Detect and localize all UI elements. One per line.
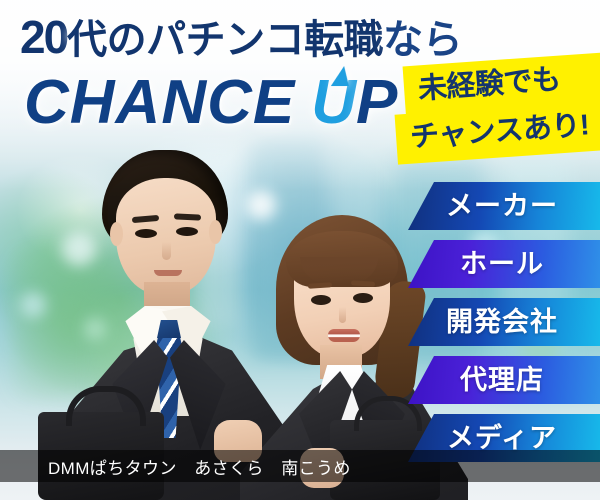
caption-band: DMMぱちタウン あさくら 南こうめ — [0, 450, 600, 482]
ear — [209, 220, 222, 244]
recruitment-banner[interactable]: 20代のパチンコ転職なら CHANCEUP 未経験でも チャンスあり! メーカー… — [0, 0, 600, 500]
category-tag-label: 開発会社 — [446, 309, 558, 336]
badge-label: チャンスあり! — [409, 111, 590, 152]
eye — [176, 227, 198, 236]
category-tag-maker[interactable]: メーカー — [408, 182, 600, 230]
category-tag-label: メディア — [447, 425, 557, 452]
mouth — [154, 270, 182, 276]
hair-bangs — [286, 231, 398, 287]
ear — [110, 222, 123, 246]
headline: 20代のパチンコ転職なら — [20, 14, 462, 60]
logo-up-group: UP — [311, 72, 397, 134]
eye — [135, 229, 157, 238]
headline-tail: なら — [383, 18, 462, 62]
category-tag-label: ホール — [460, 251, 544, 278]
chance-up-logo: CHANCEUP — [24, 72, 397, 134]
category-tag-label: 代理店 — [460, 367, 544, 394]
caption-text: DMMぱちタウン あさくら 南こうめ — [48, 454, 351, 479]
category-tag-agency[interactable]: 代理店 — [408, 356, 600, 404]
face — [116, 178, 216, 294]
necktie-knot — [157, 320, 181, 338]
category-tag-development-company[interactable]: 開発会社 — [408, 298, 600, 346]
eye — [353, 293, 373, 303]
nose — [162, 242, 171, 260]
logo-letter-p: P — [356, 68, 397, 137]
headline-number: 20 — [20, 11, 67, 63]
category-tag-hall[interactable]: ホール — [408, 240, 600, 288]
category-tag-list: メーカー ホール 開発会社 代理店 メディア — [408, 182, 600, 472]
logo-word-chance: CHANCE — [24, 68, 295, 137]
nose — [339, 307, 346, 323]
headline-main: 代のパチンコ転職 — [67, 18, 383, 62]
mouth — [328, 329, 360, 342]
badge-label: 未経験でも — [417, 65, 561, 104]
category-tag-label: メーカー — [446, 193, 558, 220]
bg-bokeh-light — [20, 292, 46, 318]
eye — [311, 295, 331, 305]
